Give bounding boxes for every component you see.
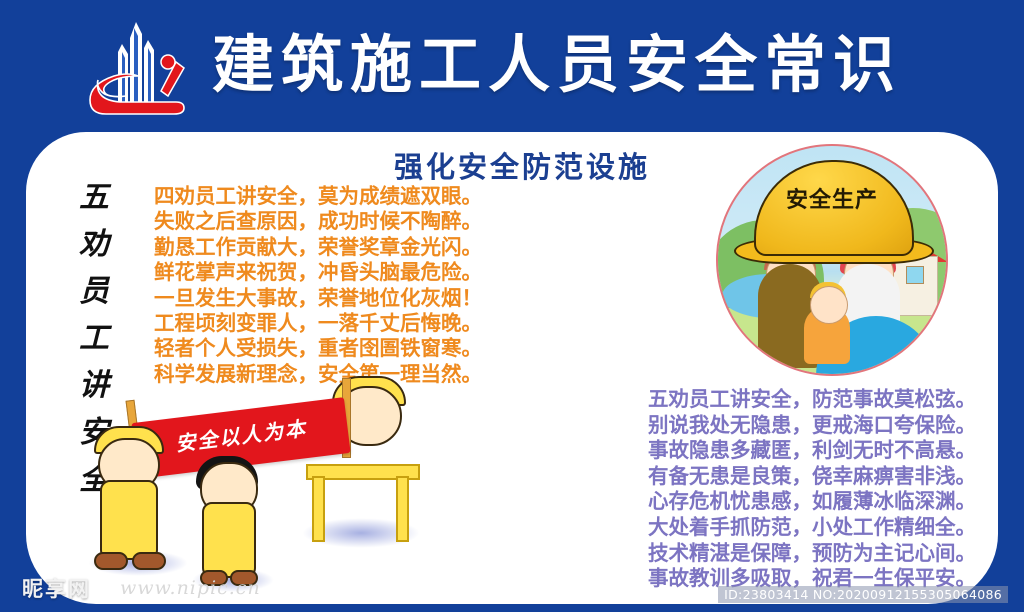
poster-header: 建筑施工人员安全常识 <box>0 0 1024 132</box>
verse-line: 失败之后查原因，成功时候不陶醉。 <box>154 209 544 234</box>
worker-shoe-shape <box>94 552 128 570</box>
verse-line: 四劝员工讲安全，莫为成绩遮双眼。 <box>154 184 544 209</box>
verse-line: 心存危机忧患感，如履薄冰临深渊。 <box>556 489 976 515</box>
table-leg-shape <box>396 476 409 542</box>
vertical-char: 劝 <box>66 221 122 268</box>
house-window-shape <box>906 266 924 284</box>
verse-line: 工程顷刻变罪人，一落千丈后悔晚。 <box>154 311 544 336</box>
verse-line: 鲜花掌声来祝贺，冲昏头脑最危险。 <box>154 260 544 285</box>
content-panel: 强化安全防范设施 五 劝 员 工 讲 安 全 四劝员工讲安全，莫为成绩遮双眼。 … <box>26 132 998 604</box>
verse-line: 轻者个人受损失，重者囹圄铁窗寒。 <box>154 336 544 361</box>
vertical-char: 五 <box>66 174 122 221</box>
worker-shoe-shape <box>132 552 166 570</box>
verse-line: 事故隐患多藏匿，利剑无时不高悬。 <box>556 438 976 464</box>
verse-line: 别说我处无隐患，更戒海口夸保险。 <box>556 413 976 439</box>
verse-line: 勤恳工作贡献大，荣誉奖章金光闪。 <box>154 235 544 260</box>
vertical-char: 员 <box>66 268 122 315</box>
verse-line: 有备无患是良策，侥幸麻痹害非浅。 <box>556 464 976 490</box>
watermark-id-text: ID:23803414 NO:20200912155305064086 <box>718 586 1008 603</box>
workers-holding-banner-illustration: 安全以人为本 <box>74 372 404 587</box>
girl-body-shape <box>202 502 256 578</box>
purple-verse-block: 五劝员工讲安全，防范事故莫松弦。 别说我处无隐患，更戒海口夸保险。 事故隐患多藏… <box>556 387 976 592</box>
verse-line: 大处着手抓防范，小处工作精细全。 <box>556 515 976 541</box>
verse-line: 技术精湛是保障，预防为主记心间。 <box>556 541 976 567</box>
page-title: 建筑施工人员安全常识 <box>212 30 902 100</box>
orange-verse-block: 四劝员工讲安全，莫为成绩遮双眼。 失败之后查原因，成功时候不陶醉。 勤恳工作贡献… <box>154 184 544 387</box>
safety-production-family-illustration: 安全生产 <box>716 144 948 376</box>
worker-body-shape <box>100 480 158 560</box>
construction-building-logo <box>84 18 204 118</box>
helmet-label: 安全生产 <box>754 182 910 214</box>
vertical-char: 工 <box>66 315 122 362</box>
baby-head-shape <box>810 286 848 324</box>
table-leg-shape <box>312 476 325 542</box>
watermark-site-logo: 昵享网 <box>22 573 91 603</box>
verse-line: 一旦发生大事故，荣誉地位化灰烟！ <box>154 286 544 311</box>
watermark-url: www.nipic.cn <box>120 577 261 599</box>
verse-line: 五劝员工讲安全，防范事故莫松弦。 <box>556 387 976 413</box>
poster-root: 建筑施工人员安全常识 强化安全防范设施 五 劝 员 工 讲 安 全 四劝员工讲安… <box>0 0 1024 612</box>
